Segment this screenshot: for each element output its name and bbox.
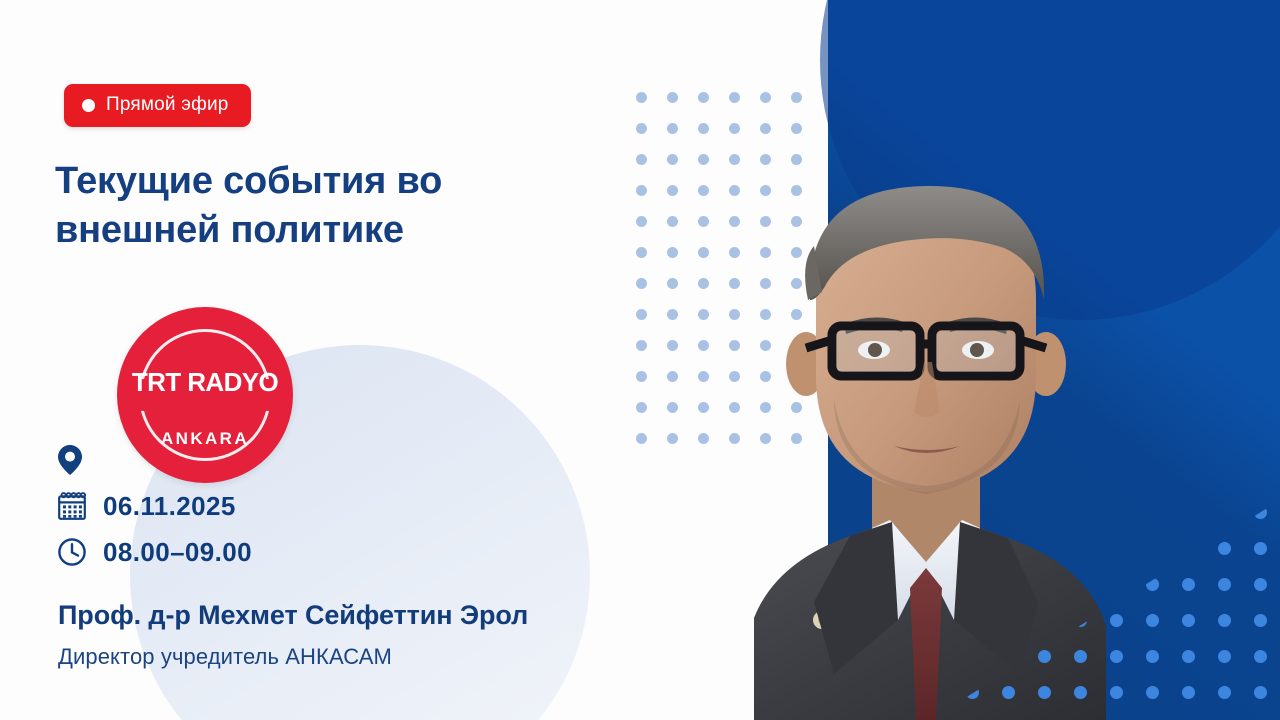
grid-dot <box>698 123 709 134</box>
accent-dot <box>1254 542 1267 555</box>
info-date-value: 06.11.2025 <box>103 491 236 522</box>
accent-dot <box>1182 578 1195 591</box>
accent-dot <box>1146 650 1159 663</box>
accent-dot <box>1218 542 1231 555</box>
speaker-name: Проф. д-р Мехмет Сейфеттин Эрол <box>58 600 658 631</box>
grid-dot <box>636 123 647 134</box>
live-dot-icon <box>82 99 95 112</box>
info-time-value: 08.00–09.00 <box>103 537 252 568</box>
accent-dot <box>1218 578 1231 591</box>
accent-dot <box>1218 614 1231 627</box>
accent-dot <box>1002 686 1015 699</box>
clock-icon <box>57 537 103 567</box>
grid-dot <box>667 92 678 103</box>
headline-line-2: внешней политике <box>55 206 575 255</box>
accent-dot <box>1146 686 1159 699</box>
grid-dot <box>667 123 678 134</box>
accent-dot <box>1254 614 1267 627</box>
calendar-icon <box>57 491 103 521</box>
location-pin-icon <box>57 444 103 476</box>
logo-main-text: TRT RADYO <box>117 367 293 398</box>
grid-dot <box>636 92 647 103</box>
accent-dot <box>1254 650 1267 663</box>
grid-dot <box>791 123 802 134</box>
accent-dot <box>1146 614 1159 627</box>
accent-dot <box>1182 650 1195 663</box>
accent-dot <box>1110 650 1123 663</box>
broadcast-announcement-card: Прямой эфир Текущие события во внешней п… <box>0 0 1280 720</box>
accent-dot <box>1218 686 1231 699</box>
grid-dot <box>729 92 740 103</box>
live-badge-label: Прямой эфир <box>106 94 229 116</box>
speaker-role: Директор учредитель АНКАСАМ <box>58 644 658 670</box>
grid-dot <box>760 92 771 103</box>
info-row-date: 06.11.2025 <box>57 483 252 529</box>
grid-dot <box>791 92 802 103</box>
page-title: Текущие события во внешней политике <box>55 157 575 255</box>
accent-dot <box>1038 686 1051 699</box>
grid-dot <box>729 123 740 134</box>
grid-dot <box>698 92 709 103</box>
accent-dot <box>1074 650 1087 663</box>
accent-dot <box>1218 650 1231 663</box>
live-badge[interactable]: Прямой эфир <box>64 84 251 127</box>
accent-dot <box>1182 614 1195 627</box>
headline-line-1: Текущие события во <box>55 157 575 206</box>
accent-dot <box>1110 686 1123 699</box>
grid-dot <box>760 123 771 134</box>
info-row-time: 08.00–09.00 <box>57 529 252 575</box>
accent-dot <box>1110 614 1123 627</box>
accent-dot <box>1182 686 1195 699</box>
accent-dot <box>1254 578 1267 591</box>
accent-dot <box>1074 686 1087 699</box>
event-info-list: 06.11.2025 08.00–09.00 <box>57 437 252 575</box>
accent-dot <box>1038 650 1051 663</box>
info-row-location <box>57 437 252 483</box>
accent-dot <box>1254 686 1267 699</box>
